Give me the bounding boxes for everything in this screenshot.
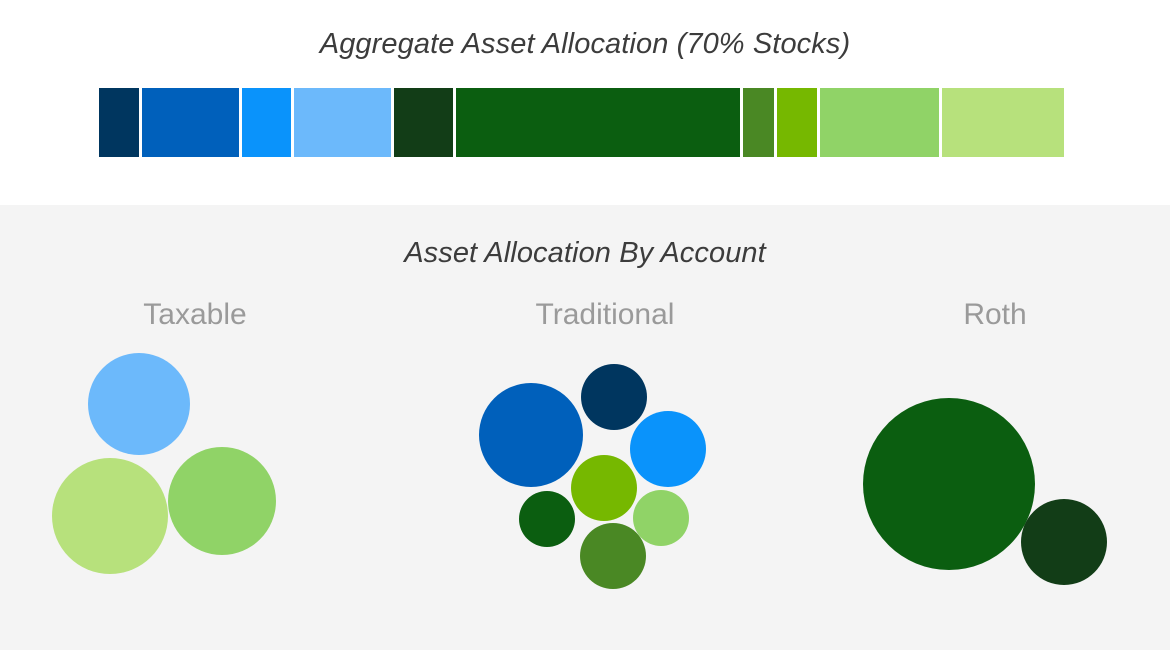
bubble-traditional-us-large-cap-blend	[479, 383, 583, 487]
bar-segment-corporate-bonds	[743, 88, 774, 157]
bubble-roth-total-bond-market	[863, 398, 1035, 570]
bubble-field-traditional	[390, 205, 820, 650]
bubble-traditional-short-term-bonds	[633, 490, 689, 546]
account-group-roth: Roth	[820, 205, 1170, 650]
aggregate-allocation-bar	[99, 88, 1074, 157]
bubble-roth-emerging-markets	[1021, 499, 1107, 585]
bar-segment-municipal-bonds	[777, 88, 817, 157]
account-group-traditional: Traditional	[390, 205, 820, 650]
aggregate-chart-title: Aggregate Asset Allocation (70% Stocks)	[0, 28, 1170, 61]
bar-segment-international-stocks	[294, 88, 391, 157]
bubble-traditional-us-large-cap-value	[581, 364, 647, 430]
aggregate-allocation-panel: Aggregate Asset Allocation (70% Stocks)	[0, 0, 1170, 205]
bubble-taxable-short-term-bonds	[168, 447, 276, 555]
bar-segment-us-mid-small-cap	[242, 88, 291, 157]
bar-segment-us-large-cap-blend	[142, 88, 239, 157]
accounts-allocation-panel: Asset Allocation By Account Taxable Trad…	[0, 205, 1170, 650]
bar-segment-emerging-markets	[394, 88, 453, 157]
bar-segment-short-term-bonds	[820, 88, 939, 157]
bubble-traditional-total-bond-market	[519, 491, 575, 547]
bubble-field-roth	[820, 205, 1170, 650]
bubble-taxable-international-stocks	[88, 353, 190, 455]
bar-segment-cash-equivalents	[942, 88, 1064, 157]
bubble-traditional-municipal-bonds	[571, 455, 637, 521]
bubble-traditional-corporate-bonds	[580, 523, 646, 589]
account-group-taxable: Taxable	[0, 205, 390, 650]
bubble-field-taxable	[0, 205, 390, 650]
bar-segment-total-bond-market	[456, 88, 740, 157]
bubble-taxable-cash-equivalents	[52, 458, 168, 574]
bubble-traditional-us-mid-small-cap	[630, 411, 706, 487]
bar-segment-us-large-cap-value	[99, 88, 139, 157]
